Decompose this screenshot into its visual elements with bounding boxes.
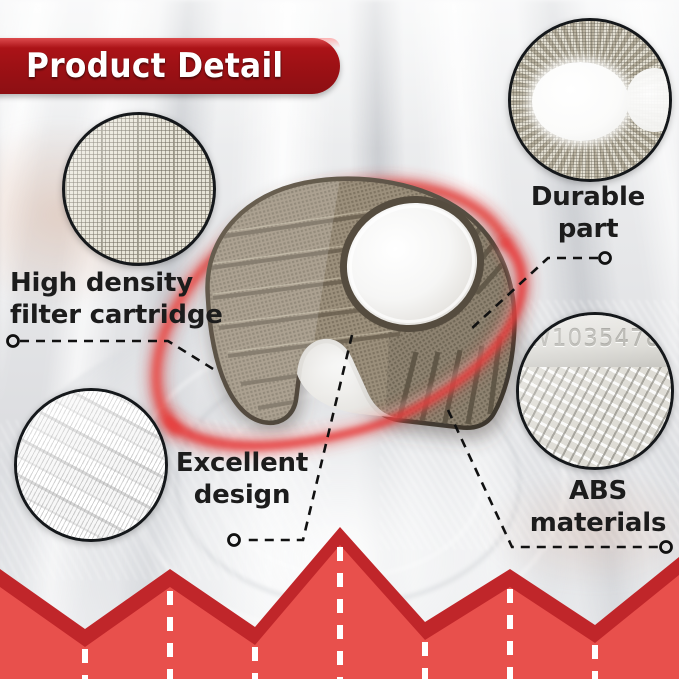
circle-gloss [65,115,213,263]
bottom-zigzag-band [0,519,679,679]
detail-circle-high-density-filter [62,112,216,266]
filter-hole-closeup [532,62,630,141]
leader-high-density [20,341,218,372]
product-detail-image: W10354786 Product Detail High density fi… [0,0,679,679]
label-high-density-filter-cartridge: High density filter cartridge [10,268,223,331]
banner-title: Product Detail [26,46,283,86]
product-detail-banner: Product Detail [0,38,340,94]
label-durable-part: Durable part [508,182,668,245]
circle-gloss [519,315,671,467]
label-excellent-design: Excellent design [168,448,316,511]
filter-hole-closeup-secondary [626,68,672,131]
leader-dot-high-density [8,336,19,347]
detail-circle-abs-materials: W10354786 [516,312,674,470]
circle-gloss [17,391,165,539]
leader-dot-durable-part [600,253,611,264]
detail-circle-durable-part [508,18,672,182]
